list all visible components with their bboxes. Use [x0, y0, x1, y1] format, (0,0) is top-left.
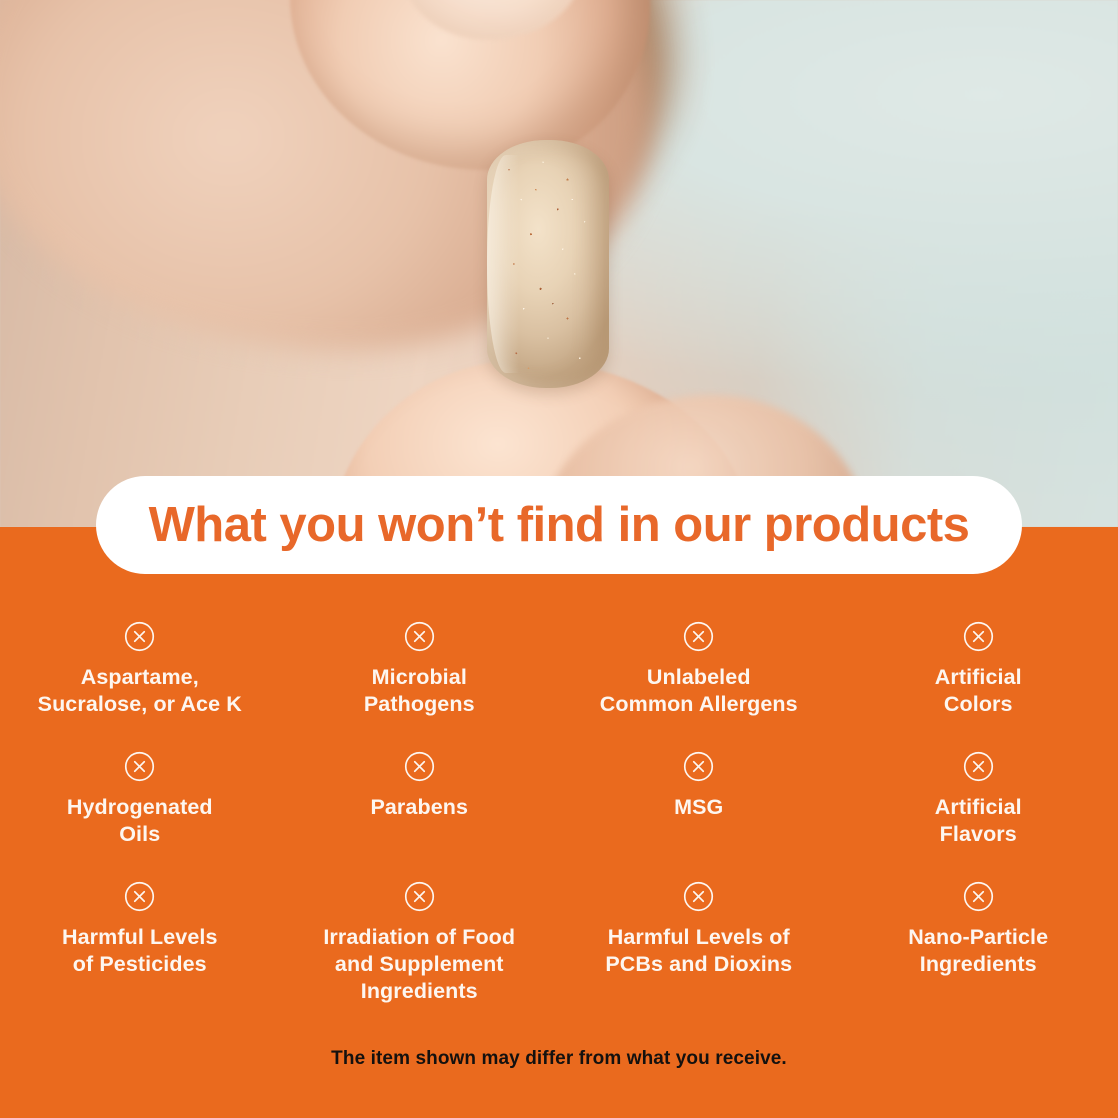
- exclusion-item-8: Harmful Levels of Pesticides: [0, 860, 280, 990]
- excluded-ingredients-grid: Aspartame, Sucralose, or Ace K Microbial…: [0, 600, 1118, 990]
- exclusion-item-label: Aspartame, Sucralose, or Ace K: [38, 664, 242, 718]
- exclusion-item-label: Hydrogenated Oils: [67, 794, 213, 848]
- exclusion-item-label: Parabens: [370, 794, 468, 821]
- disclaimer-text: The item shown may differ from what you …: [0, 1048, 1118, 1070]
- exclusion-item-11: Nano-Particle Ingredients: [839, 860, 1118, 990]
- exclusion-item-label: Microbial Pathogens: [364, 664, 475, 718]
- circle-x-icon: [404, 621, 435, 652]
- footer: The item shown may differ from what you …: [0, 1048, 1118, 1070]
- page-title: What you won’t find in our products: [149, 501, 970, 550]
- tablet-highlight-edge: [487, 155, 519, 373]
- exclusion-item-9: Irradiation of Food and Supplement Ingre…: [280, 860, 560, 990]
- exclusion-item-label: Harmful Levels of Pesticides: [62, 924, 218, 978]
- product-photo: [0, 0, 1118, 527]
- exclusion-item-0: Aspartame, Sucralose, or Ace K: [0, 600, 280, 730]
- product-claims-poster: What you won’t find in our products Aspa…: [0, 0, 1118, 1118]
- exclusion-item-label: Unlabeled Common Allergens: [600, 664, 798, 718]
- exclusion-item-1: Microbial Pathogens: [280, 600, 560, 730]
- exclusion-item-6: MSG: [559, 730, 839, 860]
- circle-x-icon: [683, 621, 714, 652]
- circle-x-icon: [683, 751, 714, 782]
- headline-pill: What you won’t find in our products: [96, 476, 1022, 574]
- exclusion-item-label: Artificial Colors: [935, 664, 1022, 718]
- circle-x-icon: [683, 881, 714, 912]
- exclusion-item-10: Harmful Levels of PCBs and Dioxins: [559, 860, 839, 990]
- circle-x-icon: [963, 751, 994, 782]
- circle-x-icon: [124, 751, 155, 782]
- exclusion-item-label: MSG: [674, 794, 723, 821]
- exclusion-item-3: Artificial Colors: [839, 600, 1118, 730]
- exclusion-item-4: Hydrogenated Oils: [0, 730, 280, 860]
- supplement-tablet: [487, 140, 609, 388]
- exclusion-item-2: Unlabeled Common Allergens: [559, 600, 839, 730]
- headline-emphasis: won’t: [378, 498, 503, 552]
- headline-prefix: What you: [149, 498, 379, 552]
- circle-x-icon: [963, 621, 994, 652]
- circle-x-icon: [124, 621, 155, 652]
- exclusion-item-label: Harmful Levels of PCBs and Dioxins: [605, 924, 792, 978]
- headline-suffix: find in our products: [504, 498, 970, 552]
- exclusion-item-label: Artificial Flavors: [935, 794, 1022, 848]
- exclusion-item-label: Nano-Particle Ingredients: [908, 924, 1048, 978]
- exclusion-item-label: Irradiation of Food and Supplement Ingre…: [323, 924, 515, 1005]
- circle-x-icon: [404, 881, 435, 912]
- circle-x-icon: [124, 881, 155, 912]
- circle-x-icon: [404, 751, 435, 782]
- exclusion-item-7: Artificial Flavors: [839, 730, 1118, 860]
- circle-x-icon: [963, 881, 994, 912]
- exclusion-item-5: Parabens: [280, 730, 560, 860]
